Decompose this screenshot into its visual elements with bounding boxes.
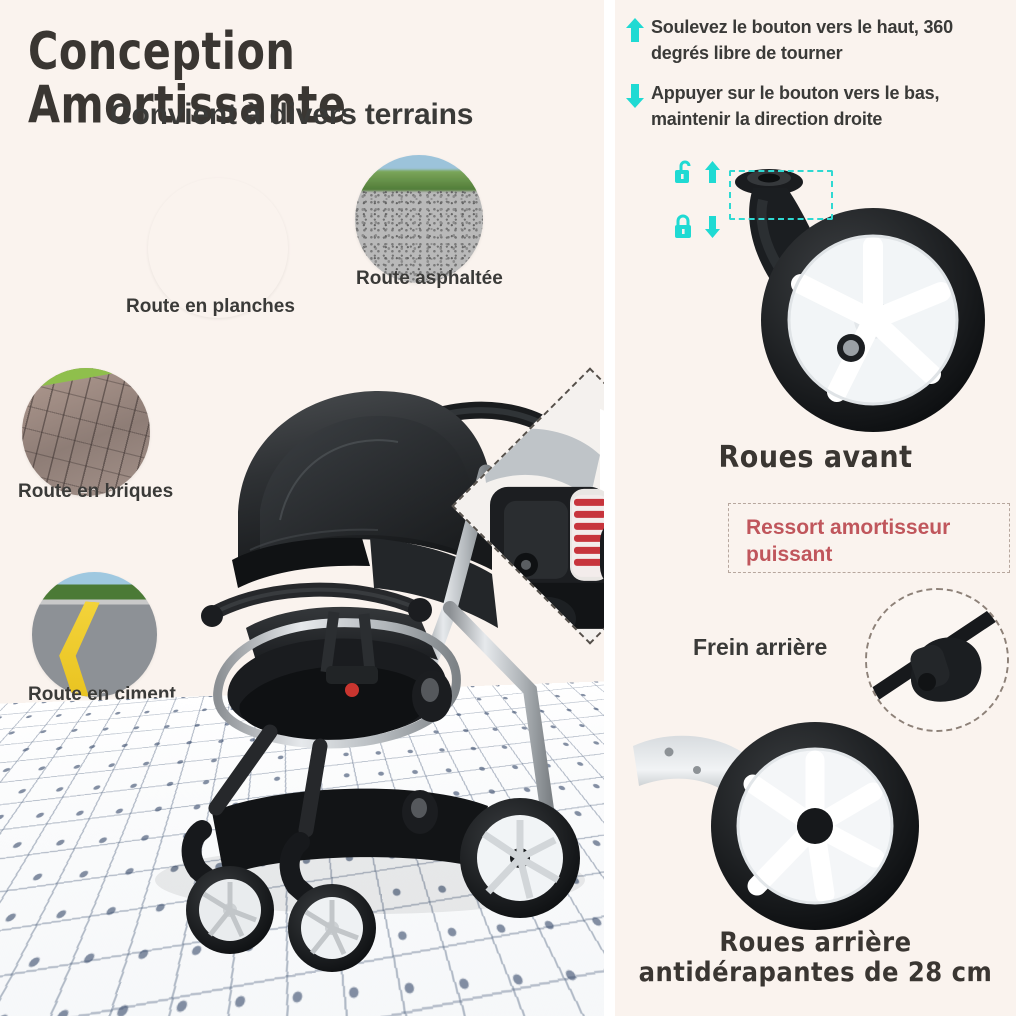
rear-wheel-caption: Roues arrière antidérapantes de 28 cm [615, 928, 1016, 987]
terrain-asphalt-image [355, 155, 483, 283]
infographic-canvas: Conception Amortissante Convient à diver… [0, 0, 1016, 1016]
terrain-plank-label: Route en planches [126, 296, 295, 318]
terrain-asphalt: Route asphaltée [355, 155, 483, 283]
instruction-text: Soulevez le bouton vers le haut, 360 deg… [651, 14, 1015, 66]
instruction-item: Soulevez le bouton vers le haut, 360 deg… [625, 14, 1015, 66]
swivel-highlight-box [729, 170, 833, 220]
rear-wheel-caption-line2: antidérapantes de 28 cm [615, 958, 1016, 988]
instruction-text: Appuyer sur le bouton vers le bas, maint… [651, 80, 1015, 132]
shock-absorber-callout [492, 408, 608, 604]
spring-callout-box: Ressort amortisseur puissant [728, 503, 1010, 573]
instruction-item: Appuyer sur le bouton vers le bas, maint… [625, 80, 1015, 132]
instructions-list: Soulevez le bouton vers le haut, 360 deg… [625, 14, 1015, 146]
brake-label: Frein arrière [693, 634, 827, 661]
arrow-up-icon [704, 160, 721, 189]
rear-wheel-caption-line1: Roues arrière [615, 928, 1016, 958]
page-subtitle: Convient à divers terrains [110, 98, 530, 132]
arrow-down-icon [625, 83, 651, 114]
rear-wheel-svg [633, 700, 1003, 940]
panel-divider [604, 0, 615, 1016]
arrow-down-icon [704, 215, 721, 244]
arrow-up-icon [625, 17, 651, 48]
left-panel: Conception Amortissante Convient à diver… [0, 0, 608, 1016]
terrain-asphalt-label: Route asphaltée [356, 268, 503, 290]
stroller-illustration [120, 360, 608, 1000]
rear-wheel-illustration [633, 700, 1003, 940]
terrain-plank: Route en planches [148, 178, 288, 318]
unlock-open-icon [673, 158, 697, 191]
spring-callout-text: Ressort amortisseur puissant [746, 515, 996, 569]
front-wheel-caption: Roues avant [615, 440, 1016, 475]
right-panel: Soulevez le bouton vers le haut, 360 deg… [615, 0, 1016, 1016]
lock-closed-icon [673, 213, 697, 246]
